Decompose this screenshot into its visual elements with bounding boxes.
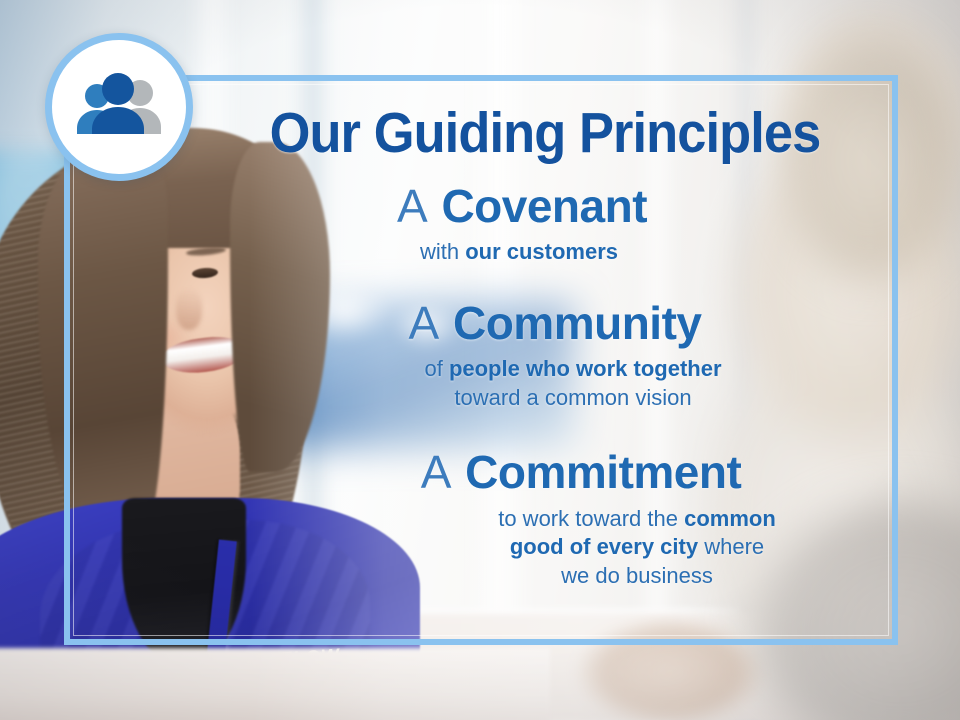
principle-covenant: A Covenant with our customers (200, 182, 890, 267)
principle-covenant-heading: A Covenant (200, 182, 844, 230)
principle-article: A (421, 446, 453, 498)
text-content: Our Guiding Principles A Covenant with o… (200, 78, 890, 638)
principle-community: A Community of people who work togethert… (200, 299, 890, 412)
person-center-head (102, 73, 134, 105)
principle-article: A (409, 297, 441, 349)
principle-article: A (397, 180, 429, 232)
principle-community-subtext: of people who work togethertoward a comm… (220, 355, 890, 412)
principle-commitment-subtext: to work toward the commongood of every c… (272, 505, 890, 591)
guiding-principles-graphic: FLOW FLOW Our Guiding Principles (0, 0, 960, 720)
principle-commitment: A Commitment to work toward the commongo… (200, 448, 890, 590)
principle-keyword: Covenant (441, 180, 647, 232)
principle-community-heading: A Community (220, 299, 890, 347)
people-group-icon-badge (45, 33, 193, 181)
principle-covenant-subtext: with our customers (200, 238, 844, 267)
principle-keyword: Community (453, 297, 702, 349)
people-group-icon (71, 72, 167, 142)
principle-keyword: Commitment (465, 446, 741, 498)
page-title: Our Guiding Principles (228, 78, 863, 162)
principle-commitment-heading: A Commitment (272, 448, 890, 496)
nose (176, 288, 202, 330)
desk-surface (0, 648, 550, 720)
